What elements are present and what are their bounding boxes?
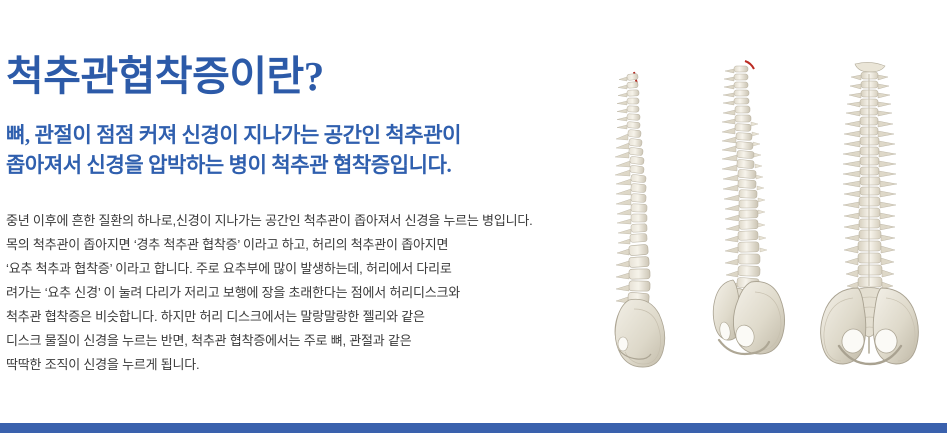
spine-model-oblique-image (705, 58, 801, 368)
page-title: 척추관협착증이란? (6, 52, 324, 100)
body-line-2: 목의 척추관이 좁아지면 ‘경추 척추관 협착증’ 이라고 하고, 허리의 척추… (6, 233, 602, 257)
spine-model-posterior-image (815, 58, 927, 368)
body-line-7: 딱딱한 조직이 신경을 누르게 됩니다. (6, 353, 602, 377)
page-root: 척추관협착증이란? 뼈, 관절이 점점 커져 신경이 지나가는 공간인 척추관이… (0, 0, 947, 433)
body-line-6: 디스크 물질이 신경을 누르는 반면, 척추관 협착증에서는 주로 뼈, 관절과… (6, 329, 602, 353)
bottom-accent-bar (0, 423, 947, 433)
body-paragraph: 중년 이후에 흔한 질환의 하나로,신경이 지나가는 공간인 척추관이 좁아져서… (6, 209, 602, 377)
spine-model-lateral-image (601, 68, 679, 368)
body-line-3: ‘요추 척추과 협착증’ 이라고 합니다. 주로 요추부에 많이 발생하는데, … (6, 257, 602, 281)
subtitle-line-2: 좁아져서 신경을 압박하는 병이 척추관 협착증입니다. (6, 150, 546, 180)
subtitle-line-1: 뼈, 관절이 점점 커져 신경이 지나가는 공간인 척추관이 (6, 120, 546, 150)
body-line-5: 척추관 협착증은 비슷합니다. 하지만 허리 디스크에서는 말랑말랑한 젤리와 … (6, 305, 602, 329)
body-line-4: 려가는 ‘요추 신경’ 이 눌려 다리가 저리고 보행에 장을 초래한다는 점에… (6, 281, 602, 305)
spine-illustration-group (587, 0, 947, 423)
subtitle-block: 뼈, 관절이 점점 커져 신경이 지나가는 공간인 척추관이 좁아져서 신경을 … (6, 120, 546, 180)
content-text-column: 척추관협착증이란? 뼈, 관절이 점점 커져 신경이 지나가는 공간인 척추관이… (6, 0, 606, 433)
body-line-1: 중년 이후에 흔한 질환의 하나로,신경이 지나가는 공간인 척추관이 좁아져서… (6, 209, 602, 233)
